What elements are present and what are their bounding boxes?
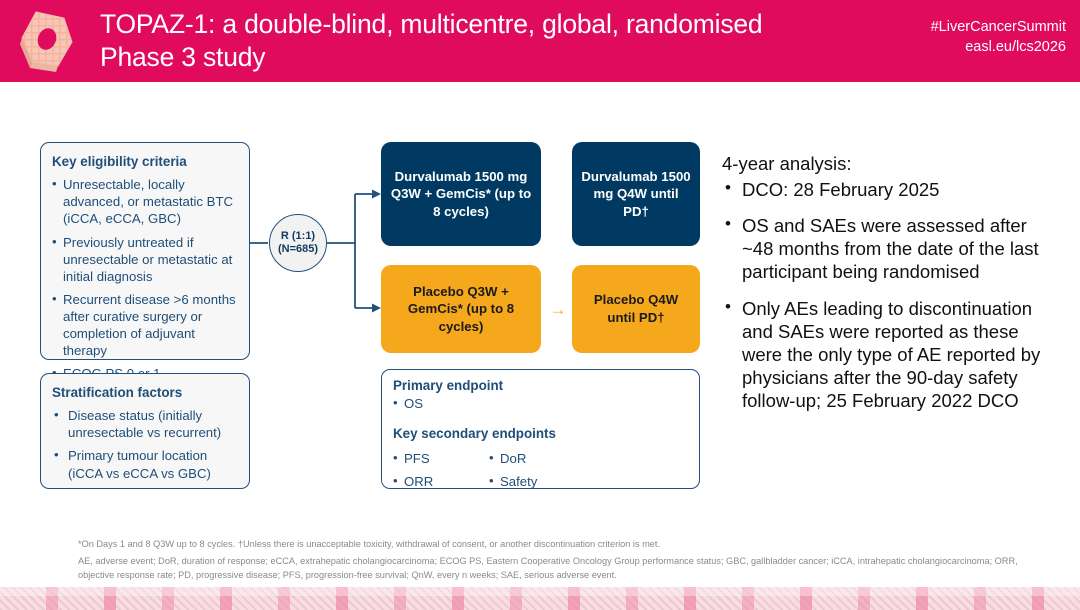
easl-hexagon-logo-icon — [14, 8, 84, 76]
slide-header: TOPAZ-1: a double-blind, multicentre, gl… — [0, 0, 1080, 82]
arm-durvalumab-maintenance-label: Durvalumab 1500 mg Q4W until PD† — [580, 168, 692, 221]
arrow-right-icon-arm1: → — [548, 186, 568, 206]
randomisation-ratio: R (1:1) — [281, 230, 315, 243]
primary-endpoint-heading: Primary endpoint — [393, 377, 688, 394]
event-hashtag: #LiverCancerSummit easl.eu/lcs2026 — [836, 18, 1066, 57]
decorative-plaid-strip — [0, 587, 1080, 610]
list-item: Unresectable, locally advanced, or metas… — [52, 176, 238, 227]
analysis-title: 4-year analysis: — [722, 152, 852, 175]
arm-placebo-maintenance-label: Placebo Q4W until PD† — [580, 291, 692, 326]
arrow-right-icon-arm2: → — [548, 300, 568, 320]
list-item: Primary tumour location (iCCA vs eCCA vs… — [52, 447, 238, 481]
event-url: easl.eu/lcs2026 — [836, 38, 1066, 58]
footnote-abbreviations: AE, adverse event; DoR, duration of resp… — [78, 554, 1018, 583]
list-item: PFS — [393, 450, 489, 467]
endpoints-box: Primary endpoint OS Key secondary endpoi… — [381, 369, 700, 489]
list-item: Disease status (initially unresectable v… — [52, 407, 238, 441]
arm-durvalumab-induction-box: Durvalumab 1500 mg Q3W + GemCis* (up to … — [381, 142, 541, 246]
primary-endpoint-list: OS — [393, 395, 688, 412]
footnote-symbols: *On Days 1 and 8 Q3W up to 8 cycles. †Un… — [78, 538, 1018, 551]
list-item: OS and SAEs were assessed after ~48 mont… — [722, 214, 1042, 283]
hashtag-text: #LiverCancerSummit — [836, 18, 1066, 38]
eligibility-heading: Key eligibility criteria — [52, 153, 238, 170]
page-title: TOPAZ-1: a double-blind, multicentre, gl… — [100, 8, 800, 74]
randomisation-node: R (1:1) (N=685) — [269, 214, 327, 272]
randomisation-n: (N=685) — [278, 243, 318, 256]
eligibility-list: Unresectable, locally advanced, or metas… — [52, 176, 238, 381]
list-item: Only AEs leading to discontinuation and … — [722, 297, 1042, 413]
list-item: OS — [393, 395, 688, 412]
stratification-list: Disease status (initially unresectable v… — [52, 407, 238, 481]
list-item: Previously untreated if unresectable or … — [52, 234, 238, 285]
arm-durvalumab-induction-label: Durvalumab 1500 mg Q3W + GemCis* (up to … — [390, 168, 532, 221]
stratification-heading: Stratification factors — [52, 384, 238, 401]
secondary-endpoints-left: PFS ORR — [393, 444, 489, 490]
plaid-highlight-band — [0, 587, 1080, 596]
list-item: Recurrent disease >6 months after curati… — [52, 291, 238, 359]
arm-placebo-induction-box: Placebo Q3W + GemCis* (up to 8 cycles) — [381, 265, 541, 353]
list-item: Safety — [489, 473, 537, 490]
stratification-factors-box: Stratification factors Disease status (i… — [40, 373, 250, 489]
arm-placebo-induction-label: Placebo Q3W + GemCis* (up to 8 cycles) — [390, 283, 532, 336]
arm-placebo-maintenance-box: Placebo Q4W until PD† — [572, 265, 700, 353]
secondary-endpoints-heading: Key secondary endpoints — [393, 425, 688, 442]
secondary-endpoints-right: DoR Safety — [489, 444, 537, 490]
list-item: ORR — [393, 473, 489, 490]
analysis-list: DCO: 28 February 2025 OS and SAEs were a… — [722, 178, 1042, 425]
eligibility-criteria-box: Key eligibility criteria Unresectable, l… — [40, 142, 250, 360]
arm-durvalumab-maintenance-box: Durvalumab 1500 mg Q4W until PD† — [572, 142, 700, 246]
list-item: DCO: 28 February 2025 — [722, 178, 1042, 201]
list-item: DoR — [489, 450, 537, 467]
slide-root: TOPAZ-1: a double-blind, multicentre, gl… — [0, 0, 1080, 610]
